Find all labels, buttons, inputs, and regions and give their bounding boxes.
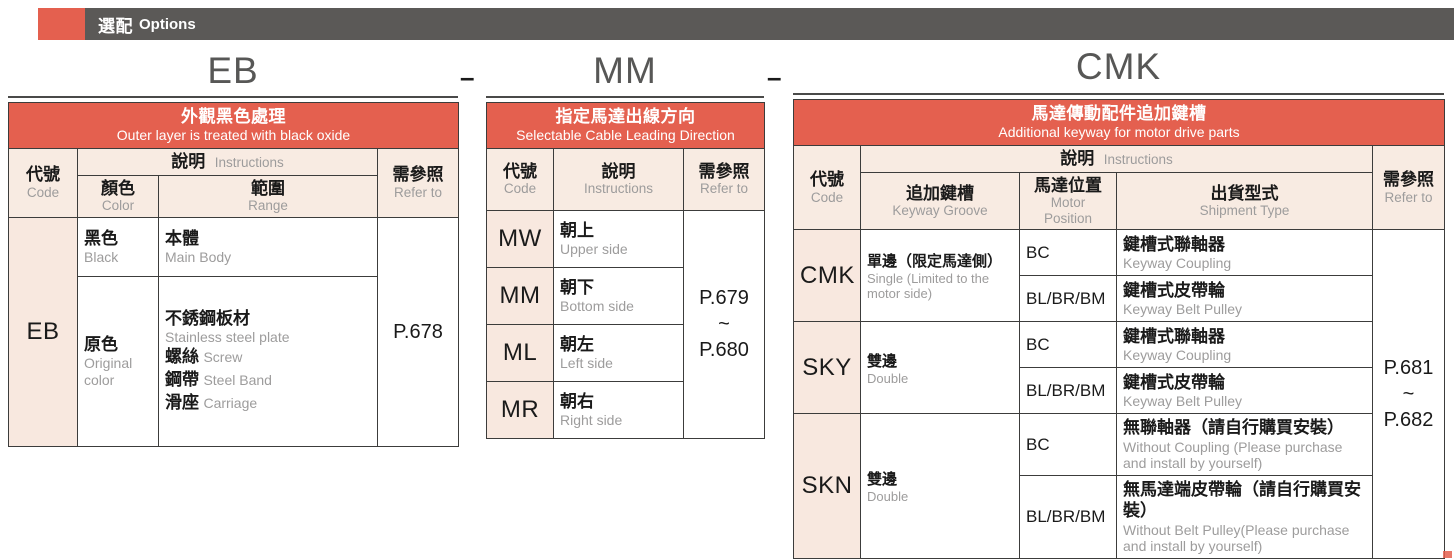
header-instructions: 說明 Instructions [78,148,378,175]
cell-code-eb: EB [9,217,78,446]
shipment-cn: 鍵槽式皮帶輪 [1123,280,1366,301]
keyway-cn: 單邊（限定馬達側） [867,250,1013,271]
keyway-cn: 雙邊 [867,350,1013,371]
accent-swatch [38,8,85,40]
header-instructions-cn: 說明 [560,162,677,182]
banner-title-en: Outer layer is treated with black oxide [15,127,452,145]
header-motorpos-en: Motor Position [1026,195,1110,226]
cell-keyway-skn: 雙邊 Double [861,414,1020,559]
direction-en: Left side [560,355,677,372]
shipment-cn: 鍵槽式皮帶輪 [1123,372,1366,393]
refer-to-tilde: ~ [690,311,758,337]
cell-color-original-cn: 原色 [84,334,152,355]
range-item-en: Screw [203,349,242,365]
range-item: 螺絲 Screw [165,346,371,369]
header-motorpos-cn: 馬達位置 [1026,176,1110,196]
table-row: 指定馬達出線方向 Selectable Cable Leading Direct… [487,103,765,149]
section-header-title: 選配 Options [85,8,1454,40]
range-item-en: Main Body [165,249,371,266]
header-range-cn: 範圍 [165,179,371,199]
shipment-cn: 鍵槽式聯軸器 [1123,326,1366,347]
table-row: SKN 雙邊 Double BC 無聯軸器（請自行購買安裝） Without C… [794,414,1445,476]
keyway-cn: 雙邊 [867,468,1013,489]
table-eb: 外觀黑色處理 Outer layer is treated with black… [8,102,459,447]
cell-code-ml: ML [487,324,554,381]
cell-code-sky: SKY [794,322,861,414]
cell-shipment-type: 無馬達端皮帶輪（請自行購買安裝） Without Belt Pulley(Ple… [1117,476,1373,559]
table-row: 外觀黑色處理 Outer layer is treated with black… [9,103,459,149]
direction-cn: 朝右 [560,391,677,412]
cell-motor-position: BL/BR/BM [1020,476,1117,559]
group-title-eb: EB [8,52,458,89]
cell-shipment-type: 鍵槽式皮帶輪 Keyway Belt Pulley [1117,368,1373,414]
table-row: EB 黑色 Black 本體 Main Body P.678 [9,217,459,276]
table-header-row: 代號 Code 說明 Instructions 需參照 Refer to [487,148,765,210]
range-item-cn: 不銹鋼板材 [165,308,371,329]
cell-code-mm: MM [487,267,554,324]
refer-to-tilde: ~ [1379,381,1438,407]
header-code-cn: 代號 [493,162,547,182]
corner-artifact [1443,551,1452,558]
header-color-cn: 顏色 [84,179,152,199]
cell-color-black-cn: 黑色 [84,228,152,249]
cell-direction-right: 朝右 Right side [554,381,684,438]
cell-range-main-body: 本體 Main Body [159,217,378,276]
header-range: 範圍 Range [159,175,378,217]
table-eb-banner: 外觀黑色處理 Outer layer is treated with black… [9,103,459,149]
cell-motor-position: BC [1020,414,1117,476]
header-instructions-en: Instructions [560,181,677,197]
cell-refer-to-mm: P.679 ~ P.680 [684,210,765,438]
direction-cn: 朝下 [560,277,677,298]
table-row: CMK 單邊（限定馬達側） Single (Limited to the mot… [794,230,1445,276]
group-title-rule-cmk [793,93,1444,95]
section-title-en: Options [139,16,196,33]
table-subheader-row: 追加鍵槽 Keyway Groove 馬達位置 Motor Position 出… [794,172,1445,230]
header-refer-en: Refer to [384,185,452,201]
shipment-cn: 鍵槽式聯軸器 [1123,234,1366,255]
header-code-en: Code [15,185,71,201]
shipment-cn: 無聯軸器（請自行購買安裝） [1123,417,1366,438]
table-mm: 指定馬達出線方向 Selectable Cable Leading Direct… [486,102,765,439]
header-code-cn: 代號 [800,170,854,190]
cell-direction-upper: 朝上 Upper side [554,210,684,267]
table-mm-banner: 指定馬達出線方向 Selectable Cable Leading Direct… [487,103,765,149]
table-row: MW 朝上 Upper side P.679 ~ P.680 [487,210,765,267]
separator-dash-2: – [767,64,781,90]
keyway-en: Double [867,371,1013,386]
shipment-en: Keyway Belt Pulley [1123,301,1366,318]
header-shipment-en: Shipment Type [1123,203,1366,219]
header-code: 代號 Code [487,148,554,210]
banner-title-cn: 指定馬達出線方向 [493,106,758,127]
header-refer-cn: 需參照 [384,165,452,185]
cell-color-black: 黑色 Black [78,217,159,276]
shipment-en: Keyway Belt Pulley [1123,393,1366,410]
range-item: 不銹鋼板材 Stainless steel plate [165,308,371,346]
direction-cn: 朝上 [560,220,677,241]
header-refer-to: 需參照 Refer to [684,148,765,210]
keyway-en: Double [867,489,1013,504]
header-code-cn: 代號 [15,165,71,185]
shipment-en: Keyway Coupling [1123,255,1366,272]
table-cmk: 馬達傳動配件追加鍵槽 Additional keyway for motor d… [793,99,1445,559]
header-code-en: Code [493,181,547,197]
header-color: 顏色 Color [78,175,159,217]
range-item-cn: 螺絲 [165,347,199,366]
cell-shipment-type: 鍵槽式聯軸器 Keyway Coupling [1117,322,1373,368]
header-instructions-cn: 說明 [1060,149,1094,168]
range-item-en: Steel Band [203,372,272,388]
cell-refer-to-cmk: P.681 ~ P.682 [1373,230,1445,559]
header-code: 代號 Code [794,145,861,230]
cell-code-cmk: CMK [794,230,861,322]
banner-title-cn: 外觀黑色處理 [15,106,452,127]
direction-en: Bottom side [560,298,677,315]
table-header-row: 代號 Code 說明 Instructions 需參照 Refer to [794,145,1445,172]
shipment-en: Without Coupling (Please purchase and in… [1123,439,1366,473]
header-shipment-type: 出貨型式 Shipment Type [1117,172,1373,230]
group-title-rule-mm [486,96,764,98]
table-row: 馬達傳動配件追加鍵槽 Additional keyway for motor d… [794,100,1445,146]
cell-direction-left: 朝左 Left side [554,324,684,381]
header-color-en: Color [84,198,152,214]
shipment-en: Without Belt Pulley(Please purchase and … [1123,522,1366,556]
section-title-cn: 選配 [98,12,133,37]
header-instructions: 說明 Instructions [554,148,684,210]
group-title-cmk: CMK [793,48,1444,85]
shipment-cn: 無馬達端皮帶輪（請自行購買安裝） [1123,479,1366,522]
cell-motor-position: BC [1020,322,1117,368]
cell-motor-position: BL/BR/BM [1020,276,1117,322]
banner-title-en: Additional keyway for motor drive parts [800,124,1438,142]
range-item: 滑座 Carriage [165,392,371,415]
keyway-en: Single (Limited to the motor side) [867,271,1013,301]
range-item-cn: 本體 [165,228,371,249]
refer-to-line2: P.682 [1379,407,1438,433]
header-refer-cn: 需參照 [1379,170,1438,190]
header-range-en: Range [165,198,371,214]
header-refer-en: Refer to [690,181,758,197]
cell-shipment-type: 鍵槽式皮帶輪 Keyway Belt Pulley [1117,276,1373,322]
group-title-mm: MM [486,52,764,89]
direction-en: Right side [560,412,677,429]
header-code-en: Code [800,190,854,206]
cell-shipment-type: 鍵槽式聯軸器 Keyway Coupling [1117,230,1373,276]
header-motor-position: 馬達位置 Motor Position [1020,172,1117,230]
separator-dash-1: – [460,64,474,90]
header-refer-to: 需參照 Refer to [1373,145,1445,230]
direction-cn: 朝左 [560,334,677,355]
header-keyway-groove: 追加鍵槽 Keyway Groove [861,172,1020,230]
cell-keyway-cmk: 單邊（限定馬達側） Single (Limited to the motor s… [861,230,1020,322]
refer-to-line1: P.681 [1379,355,1438,381]
cell-color-original-en: Original color [84,355,146,389]
refer-to-line2: P.680 [690,337,758,363]
banner-title-en: Selectable Cable Leading Direction [493,127,758,145]
range-item-cn: 滑座 [165,393,199,412]
cell-color-black-en: Black [84,249,152,266]
group-title-rule-eb [8,96,458,98]
banner-title-cn: 馬達傳動配件追加鍵槽 [800,103,1438,124]
options-spec-sheet: 選配 Options EB – MM – CMK 外觀黑色處理 Outer la… [0,0,1454,559]
header-instructions-en: Instructions [1104,152,1173,167]
header-code: 代號 Code [9,148,78,217]
table-row: SKY 雙邊 Double BC 鍵槽式聯軸器 Keyway Coupling [794,322,1445,368]
range-item: 鋼帶 Steel Band [165,369,371,392]
header-shipment-cn: 出貨型式 [1123,184,1366,204]
header-refer-cn: 需參照 [690,162,758,182]
cell-code-mr: MR [487,381,554,438]
header-instructions-cn: 說明 [171,152,205,171]
cell-direction-bottom: 朝下 Bottom side [554,267,684,324]
range-item-en: Stainless steel plate [165,329,371,346]
cell-range-original: 不銹鋼板材 Stainless steel plate 螺絲 Screw 鋼帶 … [159,276,378,446]
header-instructions-en: Instructions [215,155,284,170]
cell-keyway-sky: 雙邊 Double [861,322,1020,414]
shipment-en: Keyway Coupling [1123,347,1366,364]
direction-en: Upper side [560,241,677,258]
cell-color-original: 原色 Original color [78,276,159,446]
range-item-en: Carriage [203,395,257,411]
refer-to-line1: P.679 [690,285,758,311]
header-keyway-en: Keyway Groove [867,203,1013,219]
cell-refer-to-eb: P.678 [378,217,459,446]
cell-code-skn: SKN [794,414,861,559]
section-header-bar: 選配 Options [0,8,1454,40]
cell-code-mw: MW [487,210,554,267]
topbar-left-pad [0,8,38,40]
cell-motor-position: BL/BR/BM [1020,368,1117,414]
header-refer-to: 需參照 Refer to [378,148,459,217]
header-instructions: 說明 Instructions [861,145,1373,172]
header-refer-en: Refer to [1379,190,1438,206]
cell-motor-position: BC [1020,230,1117,276]
table-header-row: 代號 Code 說明 Instructions 需參照 Refer to [9,148,459,175]
range-item-cn: 鋼帶 [165,370,199,389]
header-keyway-cn: 追加鍵槽 [867,184,1013,204]
cell-shipment-type: 無聯軸器（請自行購買安裝） Without Coupling (Please p… [1117,414,1373,476]
table-cmk-banner: 馬達傳動配件追加鍵槽 Additional keyway for motor d… [794,100,1445,146]
